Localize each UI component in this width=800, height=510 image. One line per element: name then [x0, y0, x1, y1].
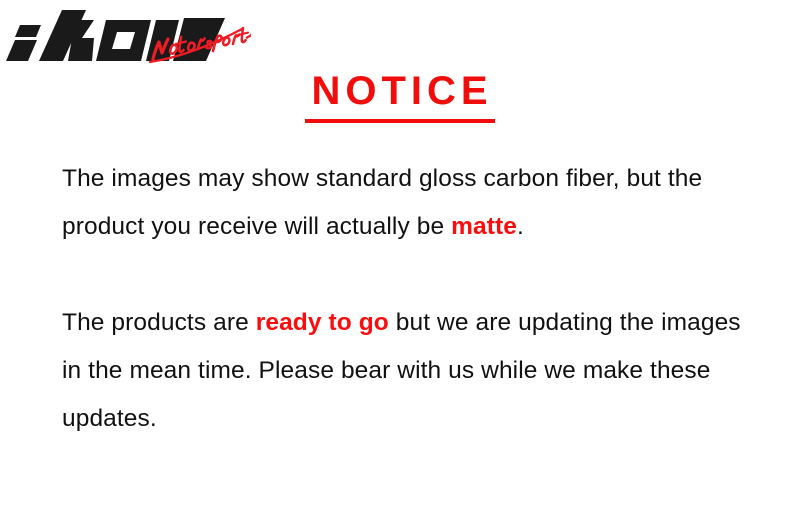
paragraph-segment-highlight: ready to go [256, 309, 389, 336]
notice-heading-container: NOTICE [0, 68, 800, 123]
paragraph-segment-text: The images may show standard gloss carbo… [62, 165, 702, 240]
notice-body: The images may show standard gloss carbo… [62, 155, 762, 443]
notice-paragraph-image-update-notice: The products are ready to go but we are … [62, 299, 762, 443]
brand-logo [6, 4, 251, 66]
notice-paragraph-matte-finish-disclaimer: The images may show standard gloss carbo… [62, 155, 762, 251]
paragraph-segment-text: The products are [62, 309, 256, 336]
page-title: NOTICE [305, 68, 494, 123]
paragraph-segment-text: . [517, 213, 524, 240]
ikon-wordmark-shape [6, 10, 225, 61]
paragraph-segment-highlight: matte [451, 213, 517, 240]
